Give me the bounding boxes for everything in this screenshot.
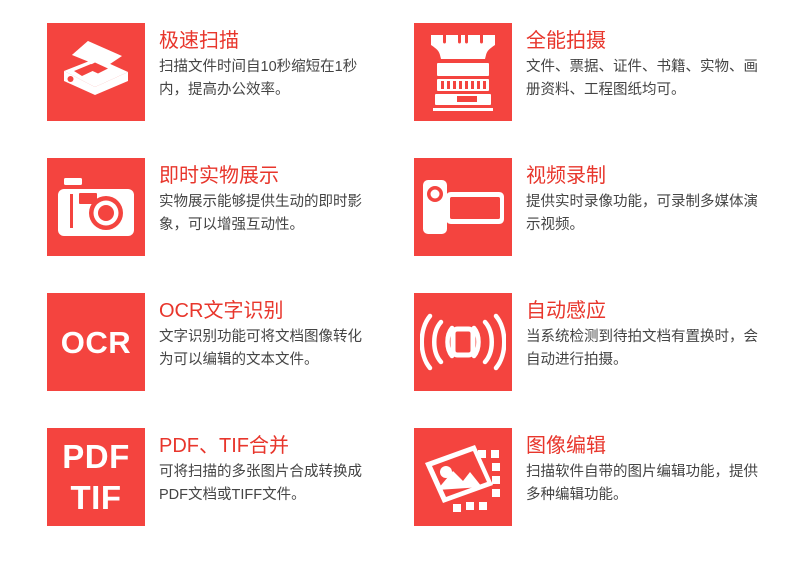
- card-text-image-edit: 图像编辑 扫描软件自带的图片编辑功能，提供多种编辑功能。: [512, 428, 790, 508]
- ocr-text-icon: OCR: [61, 327, 131, 358]
- photo-camera-icon-tile: [47, 158, 145, 256]
- photo-camera-icon: [56, 176, 136, 238]
- camcorder-icon: [421, 178, 505, 236]
- card-title: 图像编辑: [526, 434, 790, 459]
- feature-card-camera-lens[interactable]: 全能拍摄 文件、票据、证件、书籍、实物、画册资料、工程图纸均可。: [377, 23, 790, 158]
- image-edit-icon-tile: [414, 428, 512, 526]
- pdf-tif-icon: PDF TIF: [62, 436, 130, 519]
- card-description: 文字识别功能可将文档图像转化为可以编辑的文本文件。: [159, 326, 374, 373]
- ocr-icon-tile: OCR: [47, 293, 145, 391]
- signal-waves-icon: [420, 311, 506, 373]
- card-title: PDF、TIF合并: [159, 434, 377, 459]
- card-text-camcorder: 视频录制 提供实时录像功能，可录制多媒体演示视频。: [512, 158, 790, 238]
- pdf-tif-icon-tile: PDF TIF: [47, 428, 145, 526]
- card-text-ocr: OCR文字识别 文字识别功能可将文档图像转化为可以编辑的文本文件。: [145, 293, 377, 373]
- camera-lens-icon-tile: [414, 23, 512, 121]
- card-text-pdf-tif: PDF、TIF合并 可将扫描的多张图片合成转换成PDF文档或TIFF文件。: [145, 428, 377, 508]
- scanner-icon-tile: [47, 23, 145, 121]
- camera-lens-icon: [427, 33, 499, 111]
- card-title: 即时实物展示: [159, 164, 377, 189]
- feature-card-camcorder[interactable]: 视频录制 提供实时录像功能，可录制多媒体演示视频。: [377, 158, 790, 293]
- card-description: 提供实时录像功能，可录制多媒体演示视频。: [526, 191, 758, 238]
- feature-card-ocr[interactable]: OCR OCR文字识别 文字识别功能可将文档图像转化为可以编辑的文本文件。: [0, 293, 377, 428]
- feature-card-scanner[interactable]: 极速扫描 扫描文件时间自10秒缩短在1秒内，提高办公效率。: [0, 23, 377, 158]
- image-edit-icon: [423, 441, 503, 513]
- scanner-icon: [58, 37, 134, 107]
- card-title: 视频录制: [526, 164, 790, 189]
- card-description: 当系统检测到待拍文档有置换时，会自动进行拍摄。: [526, 326, 758, 373]
- feature-card-pdf-tif[interactable]: PDF TIF PDF、TIF合并 可将扫描的多张图片合成转换成PDF文档或TI…: [0, 428, 377, 573]
- card-description: 可将扫描的多张图片合成转换成PDF文档或TIFF文件。: [159, 461, 374, 508]
- card-text-camera-lens: 全能拍摄 文件、票据、证件、书籍、实物、画册资料、工程图纸均可。: [512, 23, 790, 103]
- card-description: 扫描文件时间自10秒缩短在1秒内，提高办公效率。: [159, 56, 374, 103]
- feature-card-image-edit[interactable]: 图像编辑 扫描软件自带的图片编辑功能，提供多种编辑功能。: [377, 428, 790, 573]
- card-title: OCR文字识别: [159, 299, 377, 324]
- card-description: 扫描软件自带的图片编辑功能，提供多种编辑功能。: [526, 461, 758, 508]
- feature-card-auto-sensing[interactable]: 自动感应 当系统检测到待拍文档有置换时，会自动进行拍摄。: [377, 293, 790, 428]
- card-title: 自动感应: [526, 299, 790, 324]
- card-text-photo-camera: 即时实物展示 实物展示能够提供生动的即时影象，可以增强互动性。: [145, 158, 377, 238]
- tif-label: TIF: [71, 479, 122, 516]
- feature-card-photo-camera[interactable]: 即时实物展示 实物展示能够提供生动的即时影象，可以增强互动性。: [0, 158, 377, 293]
- signal-waves-icon-tile: [414, 293, 512, 391]
- camcorder-icon-tile: [414, 158, 512, 256]
- card-text-scanner: 极速扫描 扫描文件时间自10秒缩短在1秒内，提高办公效率。: [145, 23, 377, 103]
- card-description: 实物展示能够提供生动的即时影象，可以增强互动性。: [159, 191, 374, 238]
- pdf-label: PDF: [62, 438, 130, 475]
- feature-grid: 极速扫描 扫描文件时间自10秒缩短在1秒内，提高办公效率。: [0, 0, 790, 571]
- card-description: 文件、票据、证件、书籍、实物、画册资料、工程图纸均可。: [526, 56, 758, 103]
- card-title: 全能拍摄: [526, 29, 790, 54]
- card-text-auto-sensing: 自动感应 当系统检测到待拍文档有置换时，会自动进行拍摄。: [512, 293, 790, 373]
- card-title: 极速扫描: [159, 29, 377, 54]
